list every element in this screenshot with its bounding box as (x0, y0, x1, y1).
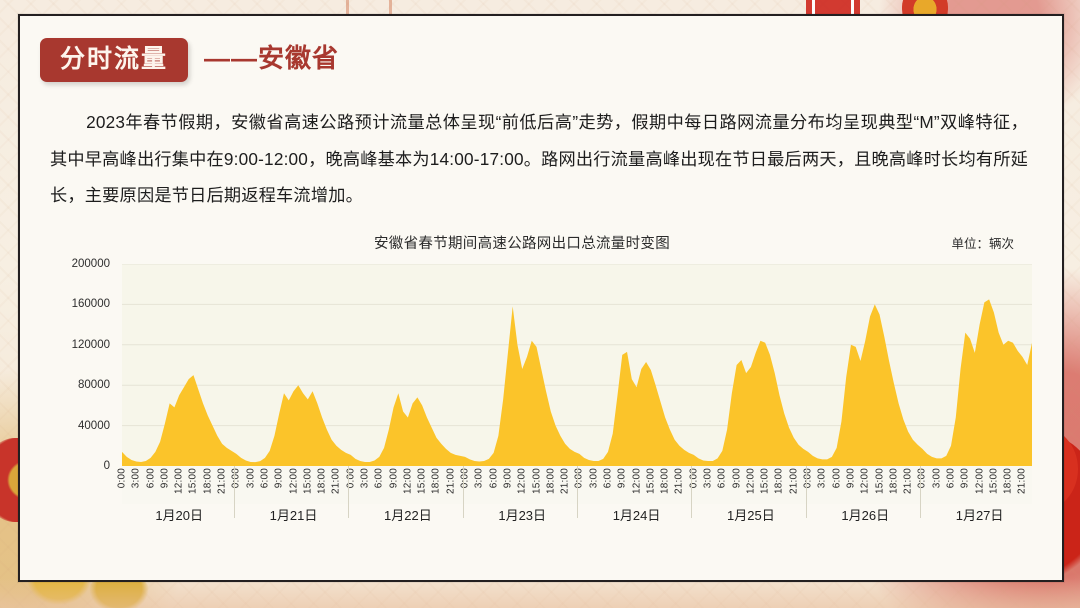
x-axis-tick-label: 6:00 (831, 468, 842, 488)
x-axis-day-label: 1月26日 (841, 505, 889, 524)
x-axis-tick-label: 18:00 (545, 468, 556, 494)
section-badge: 分时流量 (40, 38, 188, 82)
x-axis-tick-label: 21:00 (1017, 468, 1028, 494)
slide-background: 分时流量 ——安徽省 2023年春节假期，安徽省高速公路预计流量总体呈现“前低后… (0, 0, 1080, 608)
x-axis-tick-label: 6:00 (717, 468, 728, 488)
y-axis-tick-label: 40000 (78, 420, 110, 432)
x-axis-tick-label: 6:00 (374, 468, 385, 488)
x-axis-tick-label: 6:00 (946, 468, 957, 488)
x-axis-day-label: 1月22日 (384, 505, 432, 524)
x-axis-tick-label: 21:00 (445, 468, 456, 494)
x-axis-tick-label: 12:00 (174, 468, 185, 494)
x-axis-tick-label: 3:00 (359, 468, 370, 488)
y-axis-labels: 04000080000120000160000200000 (44, 264, 116, 466)
x-axis-tick-label: 12:00 (860, 468, 871, 494)
x-axis-tick-label: 18:00 (774, 468, 785, 494)
x-axis-tick-label: 18:00 (317, 468, 328, 494)
x-axis: 0:003:006:009:0012:0015:0018:0021:000:00… (122, 466, 1032, 524)
x-axis-tick-label: 3:00 (588, 468, 599, 488)
section-subtitle: ——安徽省 (204, 38, 339, 78)
x-axis-tick-label: 15:00 (531, 468, 542, 494)
flow-area-chart (122, 264, 1032, 466)
x-axis-tick-label: 21:00 (560, 468, 571, 494)
x-axis-tick-label: 15:00 (874, 468, 885, 494)
x-axis-tick-label: 18:00 (1003, 468, 1014, 494)
x-axis-tick-label: 6:00 (259, 468, 270, 488)
x-axis-tick-label: 15:00 (302, 468, 313, 494)
chart-header: 安徽省春节期间高速公路网出口总流量时变图 单位：辆次 (44, 232, 1038, 258)
x-axis-tick-label: 21:00 (331, 468, 342, 494)
x-axis-tick-label: 3:00 (817, 468, 828, 488)
x-axis-tick-label: 0:00 (574, 468, 585, 488)
x-axis-tick-label: 15:00 (417, 468, 428, 494)
x-axis-tick-label: 12:00 (402, 468, 413, 494)
y-axis-tick-label: 120000 (72, 339, 110, 351)
x-axis-tick-label: 9:00 (617, 468, 628, 488)
chart-unit-label: 单位：辆次 (951, 233, 1014, 252)
decorative-bottom-gradient (0, 578, 1080, 608)
x-axis-tick-label: 0:00 (917, 468, 928, 488)
x-axis-tick-label: 21:00 (674, 468, 685, 494)
x-axis-tick-label: 21:00 (788, 468, 799, 494)
x-axis-tick-label: 0:00 (231, 468, 242, 488)
y-axis-tick-label: 80000 (78, 379, 110, 391)
y-axis-tick-label: 160000 (72, 298, 110, 310)
flow-area-path (122, 299, 1032, 466)
plot-area: 04000080000120000160000200000 0:003:006:… (44, 264, 1038, 526)
y-axis-tick-label: 200000 (72, 258, 110, 270)
x-axis-day-label: 1月27日 (956, 505, 1004, 524)
x-axis-tick-label: 18:00 (660, 468, 671, 494)
plot-canvas (122, 264, 1032, 466)
x-axis-hour-ticks: 0:003:006:009:0012:0015:0018:0021:000:00… (122, 466, 1032, 504)
x-axis-tick-label: 12:00 (631, 468, 642, 494)
x-axis-tick-label: 18:00 (888, 468, 899, 494)
x-axis-tick-label: 9:00 (388, 468, 399, 488)
x-axis-day-label: 1月20日 (155, 505, 203, 524)
x-axis-tick-label: 15:00 (645, 468, 656, 494)
x-axis-tick-label: 12:00 (517, 468, 528, 494)
x-axis-tick-label: 15:00 (188, 468, 199, 494)
chart-container: 安徽省春节期间高速公路网出口总流量时变图 单位：辆次 0400008000012… (44, 232, 1038, 532)
x-axis-tick-label: 0:00 (688, 468, 699, 488)
x-axis-tick-label: 6:00 (488, 468, 499, 488)
slide-header: 分时流量 ——安徽省 (20, 16, 1062, 88)
x-axis-day-label: 1月25日 (727, 505, 775, 524)
x-axis-tick-label: 18:00 (202, 468, 213, 494)
x-axis-day-label: 1月24日 (613, 505, 661, 524)
x-axis-tick-label: 0:00 (460, 468, 471, 488)
x-axis-tick-label: 21:00 (903, 468, 914, 494)
x-axis-day-label: 1月21日 (270, 505, 318, 524)
x-axis-tick-label: 18:00 (431, 468, 442, 494)
x-axis-tick-label: 15:00 (988, 468, 999, 494)
x-axis-tick-label: 3:00 (131, 468, 142, 488)
y-axis-tick-label: 0 (104, 460, 110, 472)
x-axis-tick-label: 0:00 (345, 468, 356, 488)
x-axis-tick-label: 12:00 (974, 468, 985, 494)
x-axis-tick-label: 9:00 (731, 468, 742, 488)
x-axis-tick-label: 21:00 (217, 468, 228, 494)
x-axis-tick-label: 9:00 (502, 468, 513, 488)
x-axis-tick-label: 3:00 (474, 468, 485, 488)
x-axis-day-label: 1月23日 (498, 505, 546, 524)
x-axis-tick-label: 9:00 (274, 468, 285, 488)
x-axis-day-labels: 1月20日1月21日1月22日1月23日1月24日1月25日1月26日1月27日 (122, 504, 1032, 524)
x-axis-tick-label: 12:00 (745, 468, 756, 494)
x-axis-tick-label: 6:00 (145, 468, 156, 488)
content-card: 分时流量 ——安徽省 2023年春节假期，安徽省高速公路预计流量总体呈现“前低后… (18, 14, 1064, 582)
x-axis-tick-label: 9:00 (159, 468, 170, 488)
x-axis-tick-label: 9:00 (845, 468, 856, 488)
x-axis-tick-label: 3:00 (245, 468, 256, 488)
x-axis-tick-label: 15:00 (760, 468, 771, 494)
chart-title: 安徽省春节期间高速公路网出口总流量时变图 (374, 232, 670, 253)
x-axis-tick-label: 6:00 (602, 468, 613, 488)
x-axis-tick-label: 9:00 (960, 468, 971, 488)
x-axis-tick-label: 12:00 (288, 468, 299, 494)
x-axis-tick-label: 3:00 (703, 468, 714, 488)
x-axis-tick-label: 3:00 (931, 468, 942, 488)
x-axis-tick-label: 0:00 (803, 468, 814, 488)
body-paragraph: 2023年春节假期，安徽省高速公路预计流量总体呈现“前低后高”走势，假期中每日路… (50, 104, 1028, 214)
x-axis-tick-label: 0:00 (117, 468, 128, 488)
